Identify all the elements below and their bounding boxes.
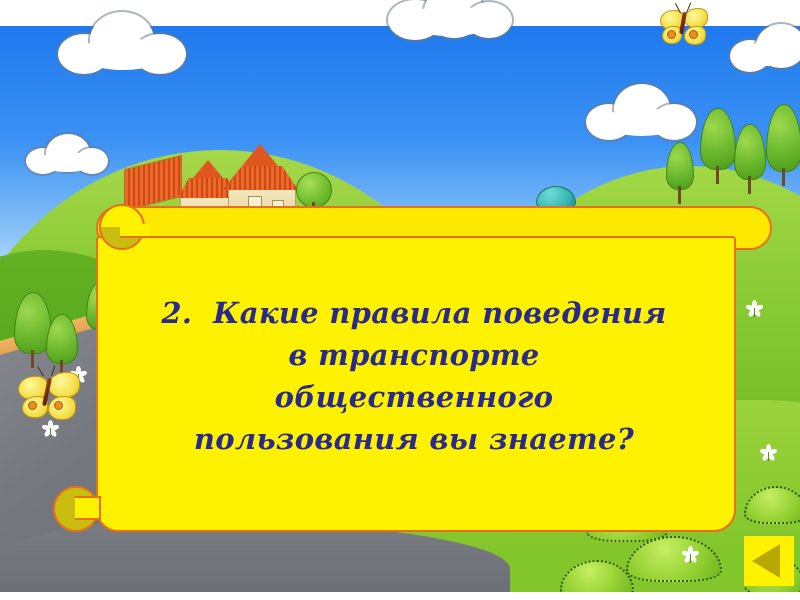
flower-icon <box>684 546 698 564</box>
scroll-curl-top-notch <box>120 224 150 238</box>
butterfly-icon <box>18 368 80 424</box>
flower-icon <box>748 300 760 316</box>
question-line-3: общественного <box>104 376 724 418</box>
butterfly-icon <box>660 6 708 48</box>
previous-slide-button[interactable] <box>744 536 794 586</box>
flower-icon <box>762 444 776 462</box>
back-arrow-icon <box>752 544 780 578</box>
slide-canvas: 2. Какие правила поведения в транспорте … <box>0 0 800 600</box>
bottom-white-strip <box>0 592 800 600</box>
question-line-4: пользования вы знаете? <box>104 418 724 460</box>
scroll-curl-bottom-notch <box>75 496 101 520</box>
tree-icon <box>14 292 50 368</box>
tree-icon <box>734 126 764 194</box>
tree-icon <box>666 146 692 204</box>
question-line-1: 2. Какие правила поведения <box>104 292 724 334</box>
tree-icon <box>766 104 800 186</box>
question-line-2: в транспорте <box>104 334 724 376</box>
tree-icon <box>700 108 734 184</box>
question-text-block: 2. Какие правила поведения в транспорте … <box>104 292 724 460</box>
